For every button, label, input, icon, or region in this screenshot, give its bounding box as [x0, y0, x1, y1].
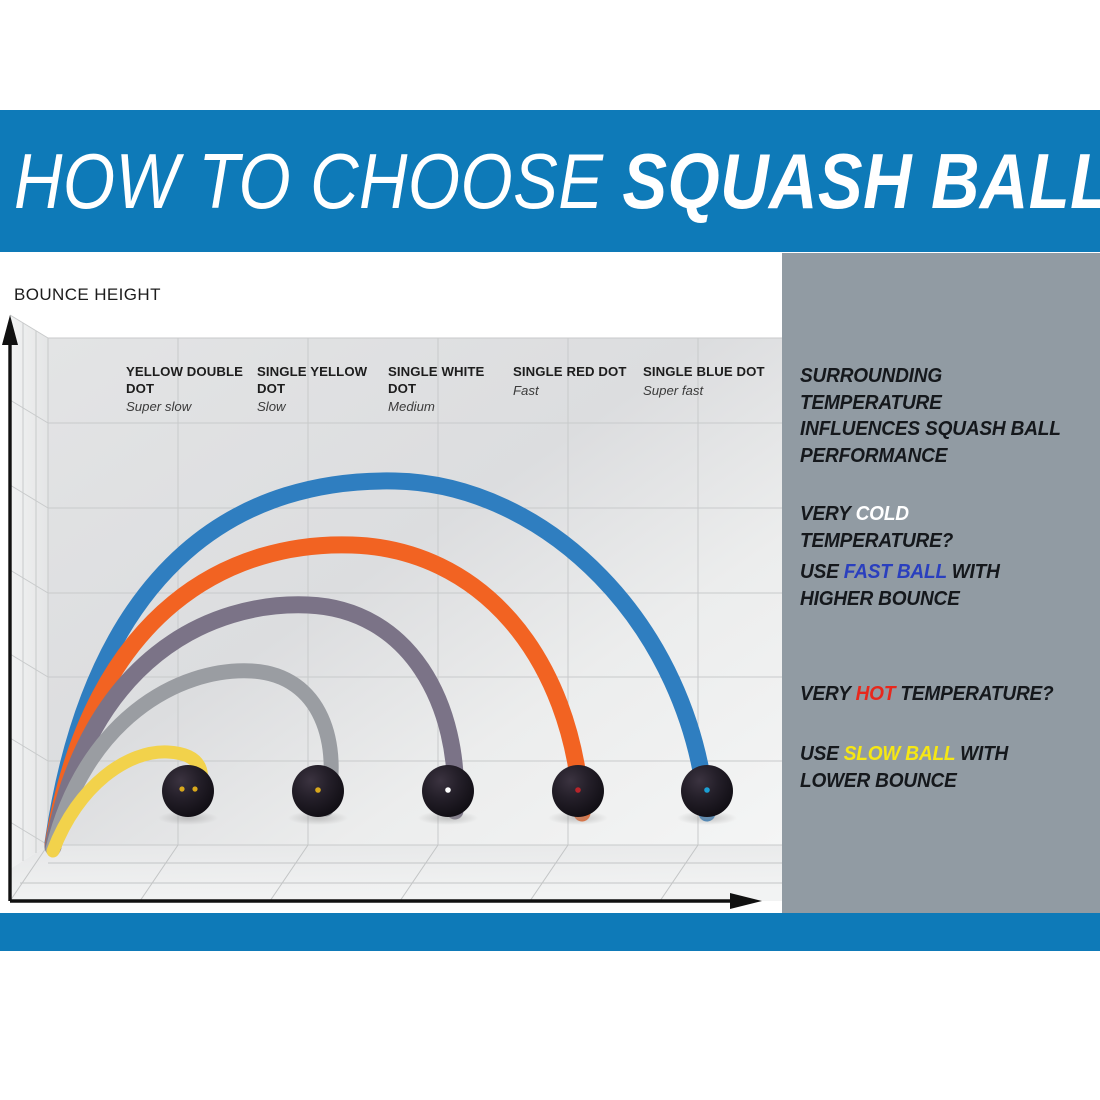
- legend-name: SINGLE RED DOT: [513, 364, 639, 381]
- cold-question: VERY COLD TEMPERATURE?: [800, 501, 1064, 554]
- cold-keyword: COLD: [856, 502, 909, 525]
- hot-answer-post: WITH: [955, 742, 1008, 765]
- legend-speed: Medium: [388, 398, 514, 415]
- legend-name: YELLOW DOUBLE DOT: [126, 364, 252, 397]
- legend-item-single-yellow-dot: SINGLE YELLOW DOT Slow: [257, 364, 383, 415]
- legend-speed: Super fast: [643, 382, 769, 399]
- ball-single-blue-dot: [681, 765, 733, 817]
- grid-side-wall: [10, 315, 48, 869]
- slow-ball-keyword: SLOW BALL: [844, 742, 955, 765]
- ball-single-yellow-dot: [292, 765, 344, 817]
- side-panel: SURROUNDING TEMPERATURE INFLUENCES SQUAS…: [782, 253, 1100, 913]
- hot-answer-line2: LOWER BOUNCE: [800, 769, 957, 792]
- legend-name: SINGLE YELLOW DOT: [257, 364, 383, 397]
- cold-answer-line2: HIGHER BOUNCE: [800, 587, 960, 610]
- ball-single-white-dot: [422, 765, 474, 817]
- fast-ball-keyword: FAST BALL: [844, 560, 947, 583]
- cold-answer-pre: USE: [800, 560, 844, 583]
- legend-name: SINGLE WHITE DOT: [388, 364, 514, 397]
- legend-speed: Fast: [513, 382, 639, 399]
- footer-bar: [0, 913, 1100, 951]
- hot-question: VERY HOT TEMPERATURE?: [800, 681, 1064, 708]
- cold-question-pre: VERY: [800, 502, 856, 525]
- ball-single-red-dot: [552, 765, 604, 817]
- hot-keyword: HOT: [856, 682, 896, 705]
- legend-speed: Super slow: [126, 398, 252, 415]
- cold-question-post: TEMPERATURE?: [800, 529, 953, 552]
- hot-question-post: TEMPERATURE?: [895, 682, 1053, 705]
- cold-answer: USE FAST BALL WITHHIGHER BOUNCE: [800, 559, 1064, 612]
- hot-answer: USE SLOW BALL WITHLOWER BOUNCE: [800, 741, 1064, 794]
- legend-speed: Slow: [257, 398, 383, 415]
- page-title-heavy: SQUASH BALLS: [622, 140, 1100, 222]
- chart-area: BOUNCE HEIGHT LENGTH OF BALL FLIGHT: [0, 253, 782, 913]
- cold-answer-post: WITH: [947, 560, 1000, 583]
- hot-question-pre: VERY: [800, 682, 856, 705]
- legend-item-single-white-dot: SINGLE WHITE DOT Medium: [388, 364, 514, 415]
- legend-item-yellow-double-dot: YELLOW DOUBLE DOT Super slow: [126, 364, 252, 415]
- page-title: HOW TO CHOOSE SQUASH BALLS: [14, 133, 934, 229]
- legend-item-single-red-dot: SINGLE RED DOT Fast: [513, 364, 639, 399]
- ball-yellow-double-dot: [162, 765, 214, 817]
- legend-item-single-blue-dot: SINGLE BLUE DOT Super fast: [643, 364, 769, 399]
- chart-plot: [0, 253, 782, 913]
- side-panel-intro: SURROUNDING TEMPERATURE INFLUENCES SQUAS…: [800, 363, 1064, 469]
- legend-name: SINGLE BLUE DOT: [643, 364, 769, 381]
- page-title-light: HOW TO CHOOSE: [14, 140, 603, 222]
- infographic-root: HOW TO CHOOSE SQUASH BALLS BOUNCE HEIGHT…: [0, 0, 1100, 1100]
- hot-answer-pre: USE: [800, 742, 844, 765]
